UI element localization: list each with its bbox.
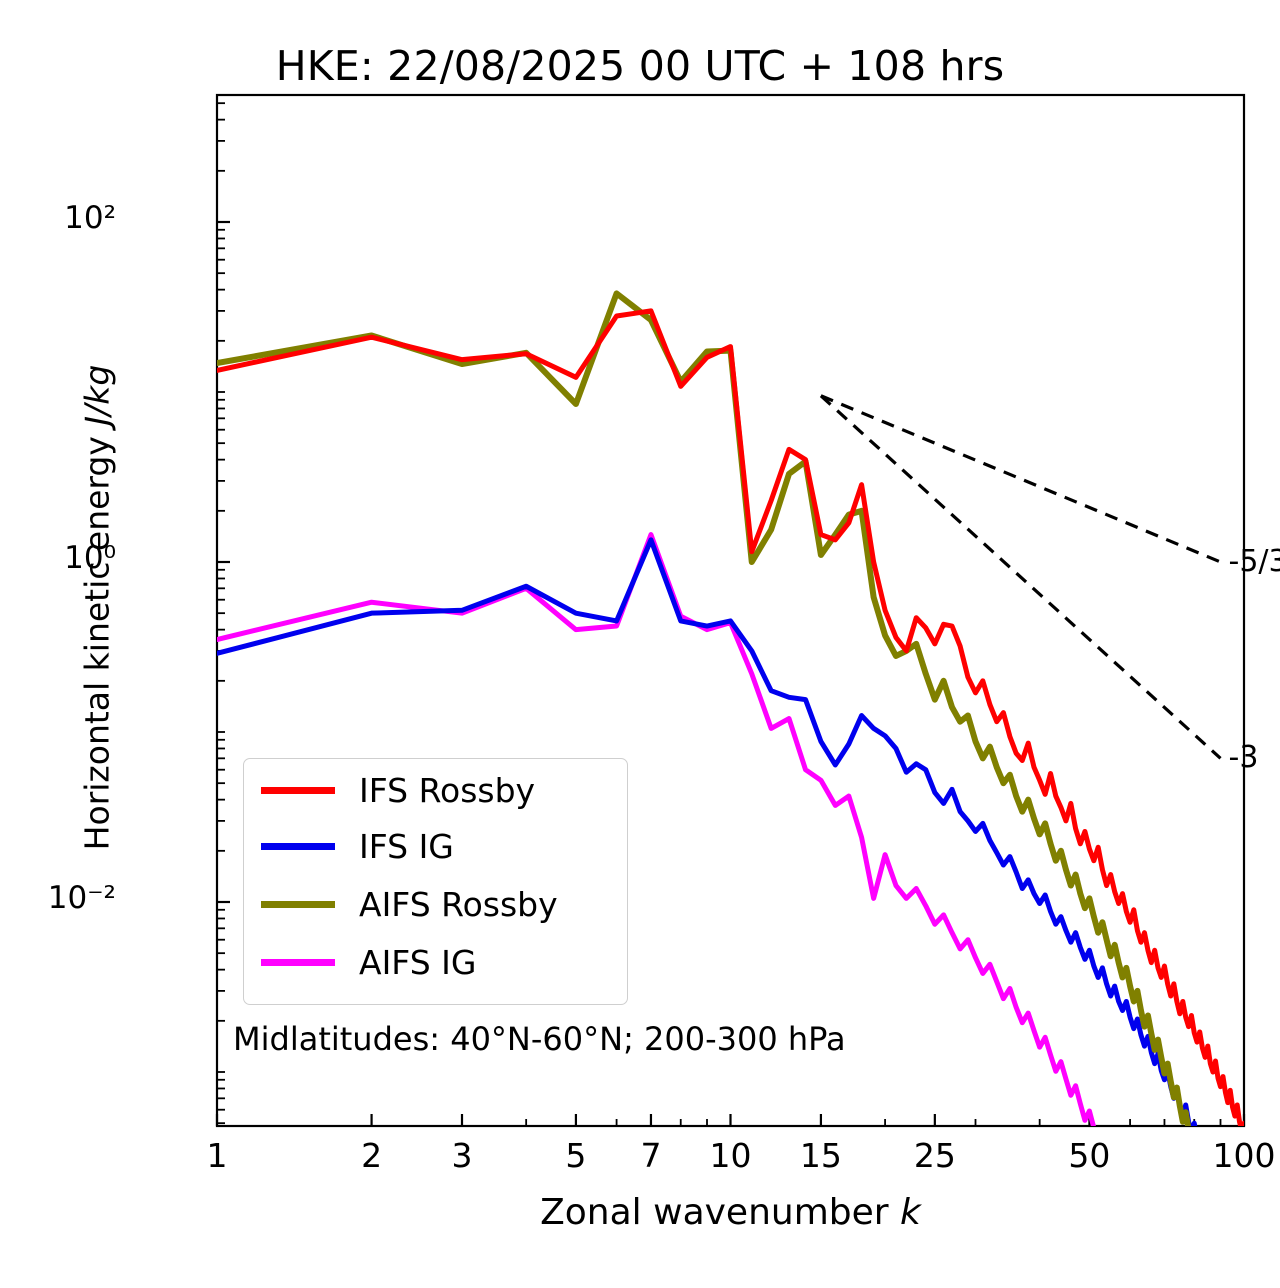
legend-item-aifs-rossby: AIFS Rossby xyxy=(261,879,558,929)
legend: IFS Rossby IFS IG AIFS Rossby AIFS IG xyxy=(243,758,628,1005)
x-tick-label: 15 xyxy=(800,1136,842,1175)
legend-label-aifs-ig: AIFS IG xyxy=(359,946,476,979)
legend-item-ifs-rossby: IFS Rossby xyxy=(261,765,535,815)
slope-label-3: -3 xyxy=(1229,740,1259,775)
figure-canvas: HKE: 22/08/2025 00 UTC + 108 hrs Horizon… xyxy=(0,0,1280,1288)
slope-label-53: -5/3 xyxy=(1229,544,1280,579)
x-tick-label: 25 xyxy=(914,1136,956,1175)
plot-area xyxy=(0,0,1280,1288)
region-annotation: Midlatitudes: 40°N-60°N; 200-300 hPa xyxy=(233,1020,846,1058)
legend-swatch-aifs-rossby xyxy=(261,901,335,908)
legend-label-ifs-ig: IFS IG xyxy=(359,830,454,863)
legend-item-aifs-ig: AIFS IG xyxy=(261,937,476,987)
x-tick-label: 3 xyxy=(452,1136,473,1175)
legend-label-aifs-rossby: AIFS Rossby xyxy=(359,888,558,921)
y-tick-label: 10² xyxy=(64,200,116,236)
legend-swatch-ifs-ig xyxy=(261,843,335,850)
x-tick-label: 5 xyxy=(565,1136,586,1175)
y-tick-label: 10⁻² xyxy=(48,880,116,916)
legend-item-ifs-ig: IFS IG xyxy=(261,821,454,871)
y-tick-label: 10⁰ xyxy=(64,540,116,576)
x-tick-label: 100 xyxy=(1213,1136,1276,1175)
x-tick-label: 7 xyxy=(640,1136,661,1175)
legend-label-ifs-rossby: IFS Rossby xyxy=(359,774,535,807)
x-tick-label: 2 xyxy=(361,1136,382,1175)
x-tick-label: 1 xyxy=(207,1136,228,1175)
x-tick-label: 10 xyxy=(710,1136,752,1175)
x-tick-label: 50 xyxy=(1068,1136,1110,1175)
legend-swatch-ifs-rossby xyxy=(261,787,335,794)
legend-swatch-aifs-ig xyxy=(261,959,335,966)
